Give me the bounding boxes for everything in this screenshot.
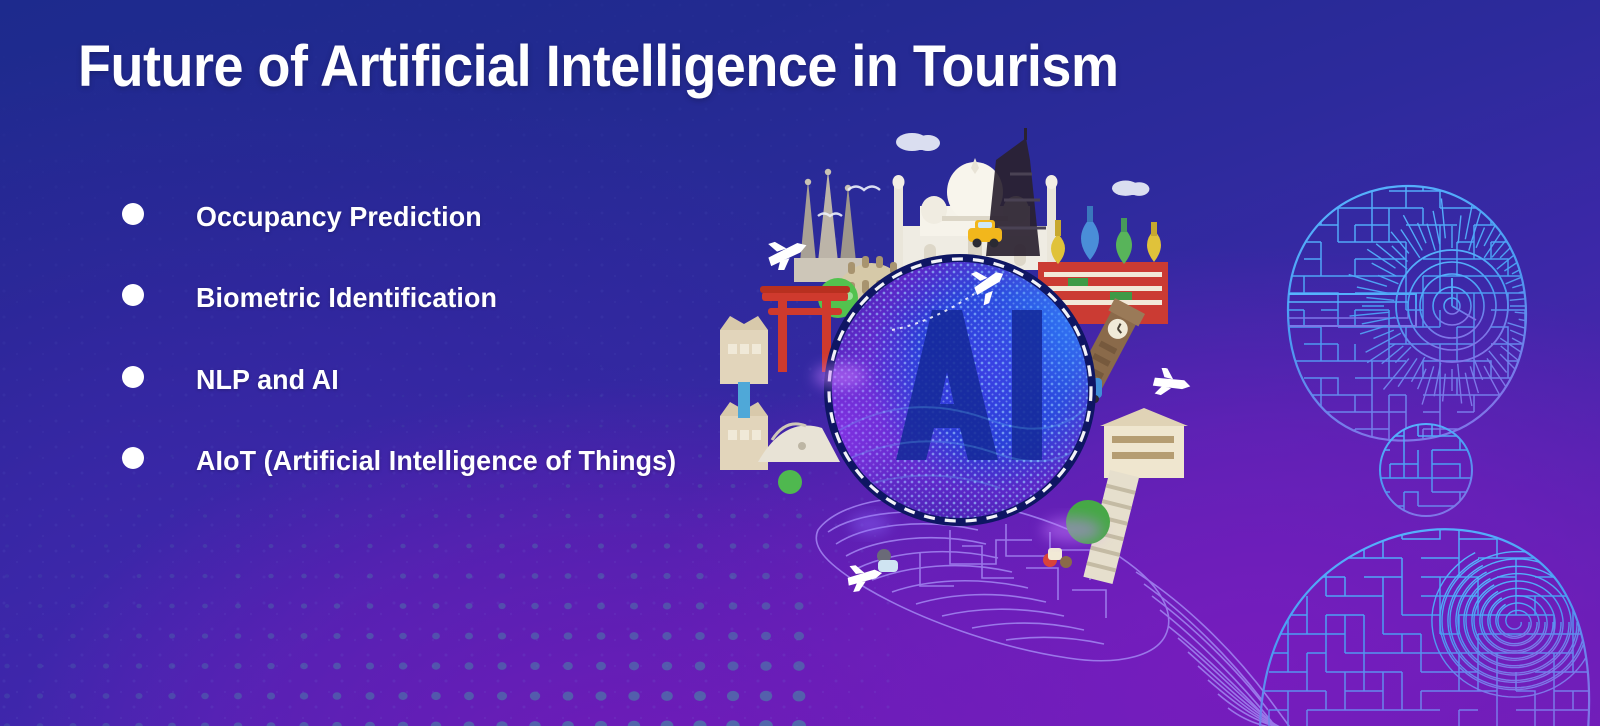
page-title: Future of Artificial Intelligence in Tou… (78, 36, 1287, 99)
bullet-dot-icon (122, 284, 144, 306)
list-item: AIoT (Artificial Intelligence of Things) (122, 440, 742, 481)
list-item-label: Biometric Identification (196, 277, 497, 318)
list-item-label: AIoT (Artificial Intelligence of Things) (196, 440, 676, 481)
bullet-list: Occupancy Prediction Biometric Identific… (122, 196, 742, 482)
list-item: Occupancy Prediction (122, 196, 742, 237)
bullet-dot-icon (122, 447, 144, 469)
bullet-dot-icon (122, 366, 144, 388)
list-item-label: Occupancy Prediction (196, 196, 482, 237)
bullet-dot-icon (122, 203, 144, 225)
ai-travel-globe (700, 130, 1240, 600)
list-item-label: NLP and AI (196, 359, 339, 400)
ai-robot-line-art (1240, 170, 1600, 726)
list-item: Biometric Identification (122, 277, 742, 318)
slide-canvas: Future of Artificial Intelligence in Tou… (0, 0, 1600, 726)
list-item: NLP and AI (122, 359, 742, 400)
